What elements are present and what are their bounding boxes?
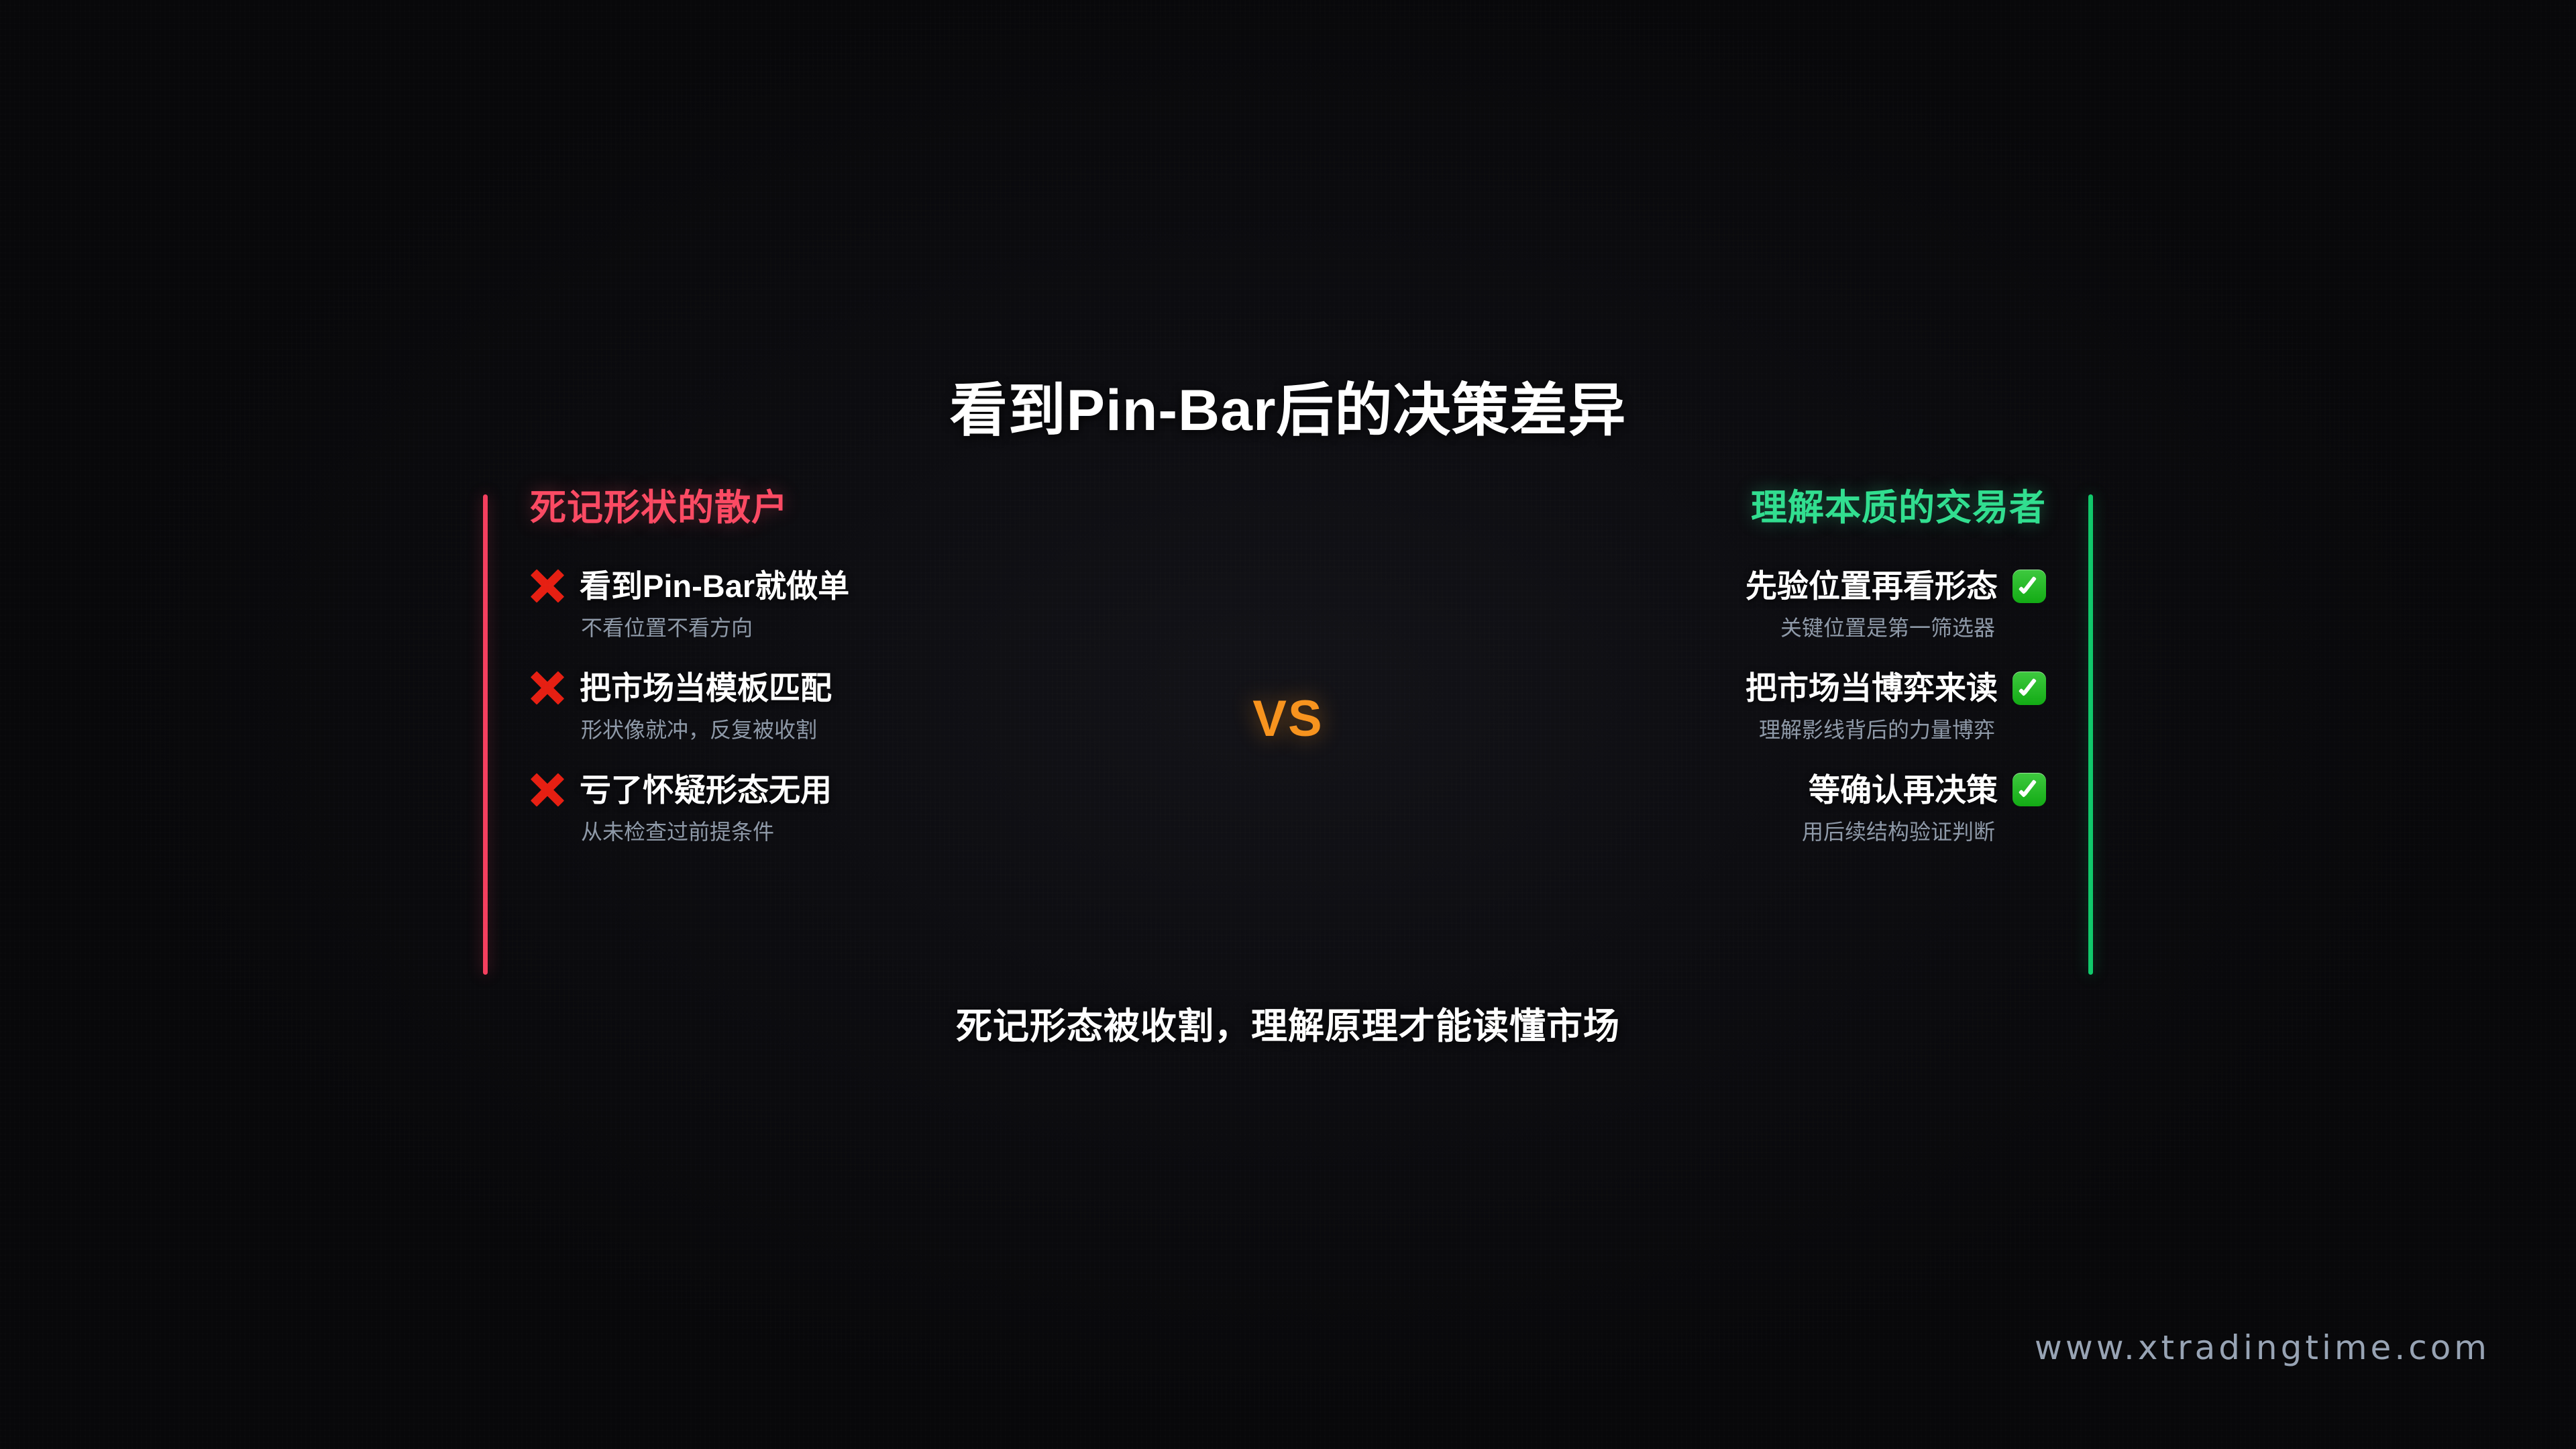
page-title: 看到Pin-Bar后的决策差异 [0,379,2576,443]
left-column: 死记形状的散户 看到Pin-Bar就做单 不看位置不看方向 把市场当模板匹配 形… [530,490,1187,845]
check-icon [2012,773,2046,806]
left-item-3-label: 亏了怀疑形态无用 [580,771,832,808]
left-item-1-title: 看到Pin-Bar就做单 [530,568,1187,604]
watermark-url: www.xtradingtime.com [2035,1328,2490,1367]
list-item: 亏了怀疑形态无用 从未检查过前提条件 [530,771,1187,845]
check-icon [2012,570,2046,603]
left-item-3-subtitle: 从未检查过前提条件 [530,819,1187,845]
right-item-3-title: 等确认再决策 [1389,771,2046,808]
list-item: 先验位置再看形态 关键位置是第一筛选器 [1389,568,2046,641]
cross-icon [530,772,565,807]
cross-icon [530,569,565,604]
list-item: 看到Pin-Bar就做单 不看位置不看方向 [530,568,1187,641]
left-item-1-subtitle: 不看位置不看方向 [530,615,1187,641]
right-column-heading: 理解本质的交易者 [1389,490,2046,526]
right-item-1-label: 先验位置再看形态 [1746,568,1998,604]
left-item-3-title: 亏了怀疑形态无用 [530,771,1187,808]
vs-badge: VS [0,690,2576,748]
list-item: 等确认再决策 用后续结构验证判断 [1389,771,2046,845]
right-item-3-subtitle: 用后续结构验证判断 [1389,819,2046,845]
right-item-3-label: 等确认再决策 [1809,771,1998,808]
right-item-1-subtitle: 关键位置是第一筛选器 [1389,615,2046,641]
left-column-heading: 死记形状的散户 [530,490,1187,526]
slide-canvas: 看到Pin-Bar后的决策差异 死记形状的散户 看到Pin-Bar就做单 不看位… [0,0,2576,1449]
right-column: 理解本质的交易者 先验位置再看形态 关键位置是第一筛选器 把市场当博弈来读 理解… [1389,490,2046,845]
tagline: 死记形态被收割，理解原理才能读懂市场 [0,996,2576,1049]
left-item-1-label: 看到Pin-Bar就做单 [580,568,849,604]
right-item-1-title: 先验位置再看形态 [1389,568,2046,604]
